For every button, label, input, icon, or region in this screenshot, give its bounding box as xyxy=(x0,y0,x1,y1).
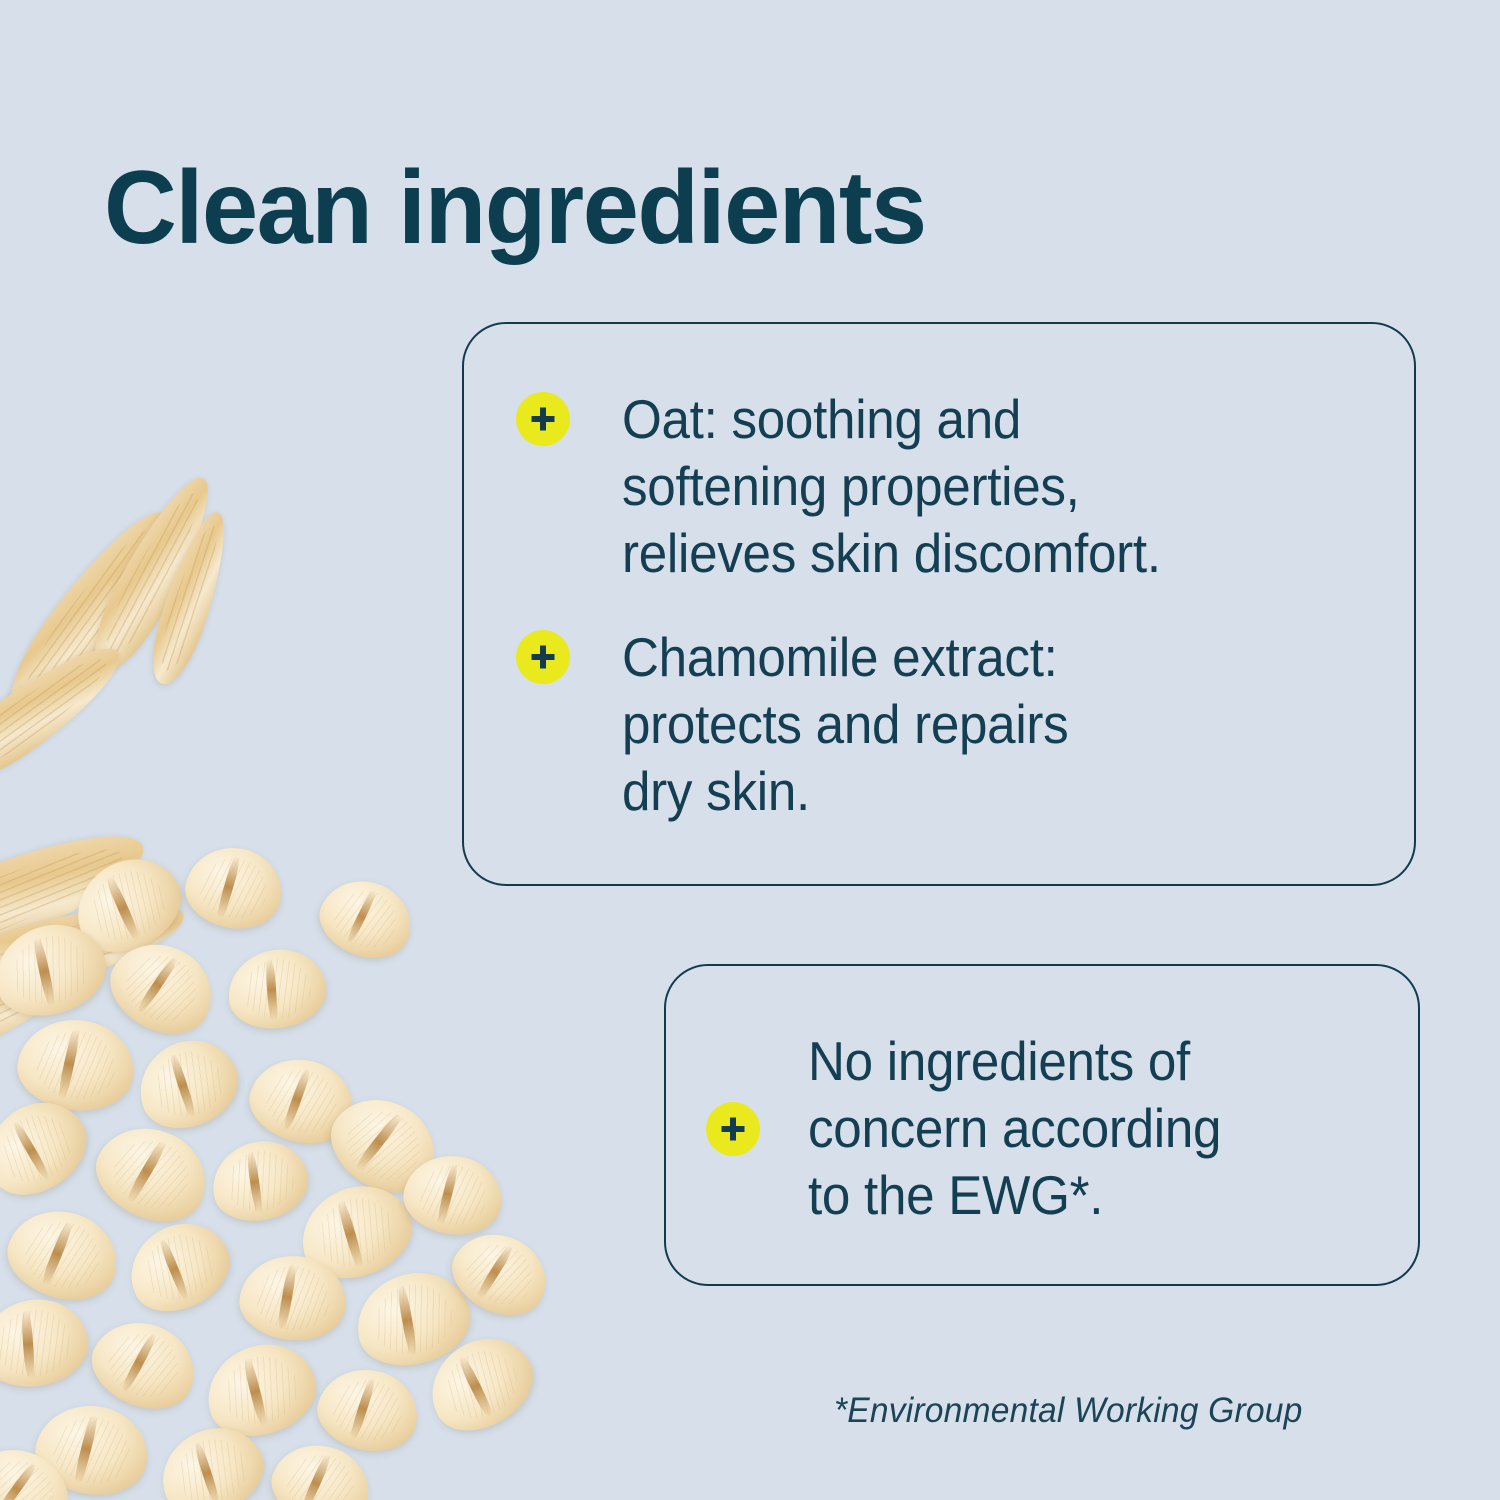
ewg-card: No ingredients of concern according to t… xyxy=(664,964,1420,1286)
poster-canvas: Clean ingredients Oat: soothing and soft… xyxy=(0,0,1500,1500)
list-item: Chamomile extract: protects and repairs … xyxy=(516,624,1102,825)
list-item: No ingredients of concern according to t… xyxy=(706,1028,1252,1229)
ingredient-chamomile-text: Chamomile extract: protects and repairs … xyxy=(622,624,1068,825)
footnote-ewg-definition: *Environmental Working Group xyxy=(834,1390,1303,1432)
plus-icon xyxy=(516,392,570,446)
ewg-claim-text: No ingredients of concern according to t… xyxy=(808,1028,1221,1229)
list-item: Oat: soothing and softening properties, … xyxy=(516,386,1201,587)
page-title: Clean ingredients xyxy=(104,154,926,262)
plus-icon xyxy=(706,1102,760,1156)
ingredient-oat-text: Oat: soothing and softening properties, … xyxy=(622,386,1161,587)
ingredients-card: Oat: soothing and softening properties, … xyxy=(462,322,1416,886)
plus-icon xyxy=(516,630,570,684)
